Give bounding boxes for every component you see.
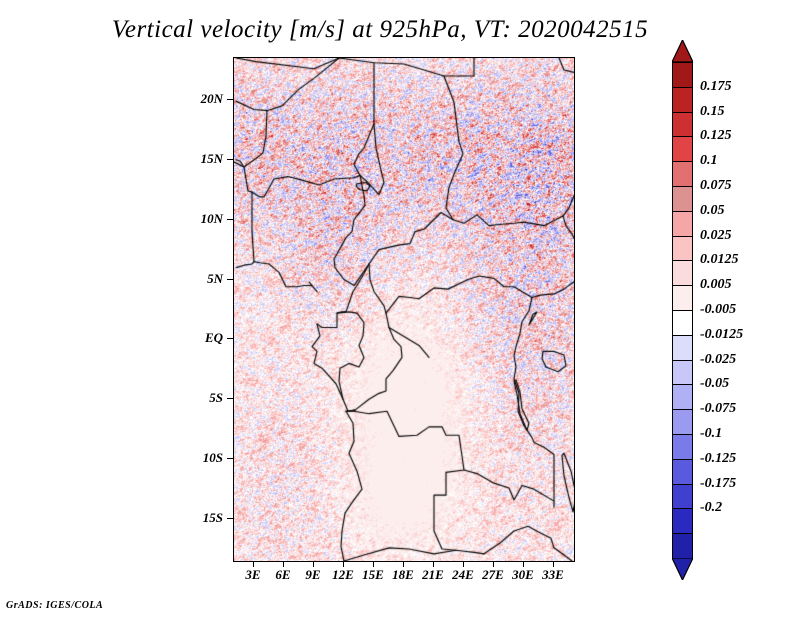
colorbar-segment [672,211,693,237]
x-axis-label: 21E [422,567,444,582]
attribution-footer: GrADS: IGES/COLA [6,600,103,611]
map-plot-area [233,57,575,562]
y-axis-tick [227,99,233,100]
y-axis-label: 15S [203,510,223,526]
colorbar-tick-label: 0.125 [700,128,732,144]
colorbar-tick-label: 0.175 [700,79,732,95]
colorbar-bottom-arrow [672,558,693,580]
colorbar-top-arrow [672,40,693,62]
colorbar-tick-label: 0.075 [700,178,732,194]
colorbar-segment [672,136,693,162]
colorbar-segment [672,384,693,410]
colorbar-segment [672,434,693,460]
y-axis-tick [227,458,233,459]
x-axis-label: 12E [332,567,354,582]
y-axis-label: 10N [201,211,223,227]
colorbar-segment [672,484,693,510]
colorbar-tick-label: 0.15 [700,104,725,120]
y-axis-label: 5S [209,390,223,406]
y-axis-label: 15N [201,151,223,167]
colorbar-segment [672,260,693,286]
colorbar-tick-label: 0.05 [700,203,725,219]
x-axis-label: 33E [542,567,564,582]
colorbar-segment [672,186,693,212]
colorbar-tick-label: 0.025 [700,228,732,244]
page-title: Vertical velocity [m/s] at 925hPa, VT: 2… [0,16,760,44]
colorbar-tick-label: 0.1 [700,153,718,169]
colorbar-tick-label: 0.005 [700,277,732,293]
colorbar-segment [672,360,693,386]
y-axis-label: 10S [203,450,223,466]
colorbar-segment [672,236,693,262]
y-axis-tick [227,219,233,220]
colorbar-segment [672,459,693,485]
colorbar-segment [672,285,693,311]
x-axis-label: 24E [452,567,474,582]
y-axis-label: EQ [205,330,223,346]
x-axis-label: 30E [512,567,534,582]
x-axis-label: 18E [392,567,414,582]
colorbar-tick-label: -0.05 [700,376,729,392]
y-axis-tick [227,159,233,160]
y-axis-tick [227,279,233,280]
colorbar-segment [672,310,693,336]
colorbar-segment [672,112,693,138]
colorbar-tick-label: -0.0125 [700,327,743,343]
colorbar-segment [672,508,693,534]
colorbar-tick-label: -0.2 [700,500,722,516]
colorbar-tick-label: -0.005 [700,302,736,318]
colorbar-segment [672,409,693,435]
colorbar-segment [672,533,693,559]
colorbar-tick-label: -0.1 [700,426,722,442]
y-axis-tick [227,518,233,519]
x-axis-label: 15E [362,567,384,582]
colorbar-tick-label: -0.025 [700,352,736,368]
country-borders-overlay [234,58,574,561]
y-axis-label: 5N [207,271,223,287]
colorbar-segment [672,335,693,361]
colorbar-tick-label: 0.0125 [700,252,739,268]
colorbar-tick-label: -0.075 [700,401,736,417]
colorbar-tick-label: -0.175 [700,476,736,492]
y-axis-tick [227,338,233,339]
colorbar-segment [672,87,693,113]
colorbar-tick-label: -0.125 [700,451,736,467]
y-axis-label: 20N [201,91,223,107]
x-axis-label: 9E [305,567,320,582]
x-axis-label: 6E [275,567,290,582]
y-axis-tick [227,398,233,399]
x-axis-label: 27E [482,567,504,582]
colorbar [672,62,693,558]
colorbar-segment [672,161,693,187]
x-axis-label: 3E [245,567,260,582]
colorbar-segment [672,62,693,88]
